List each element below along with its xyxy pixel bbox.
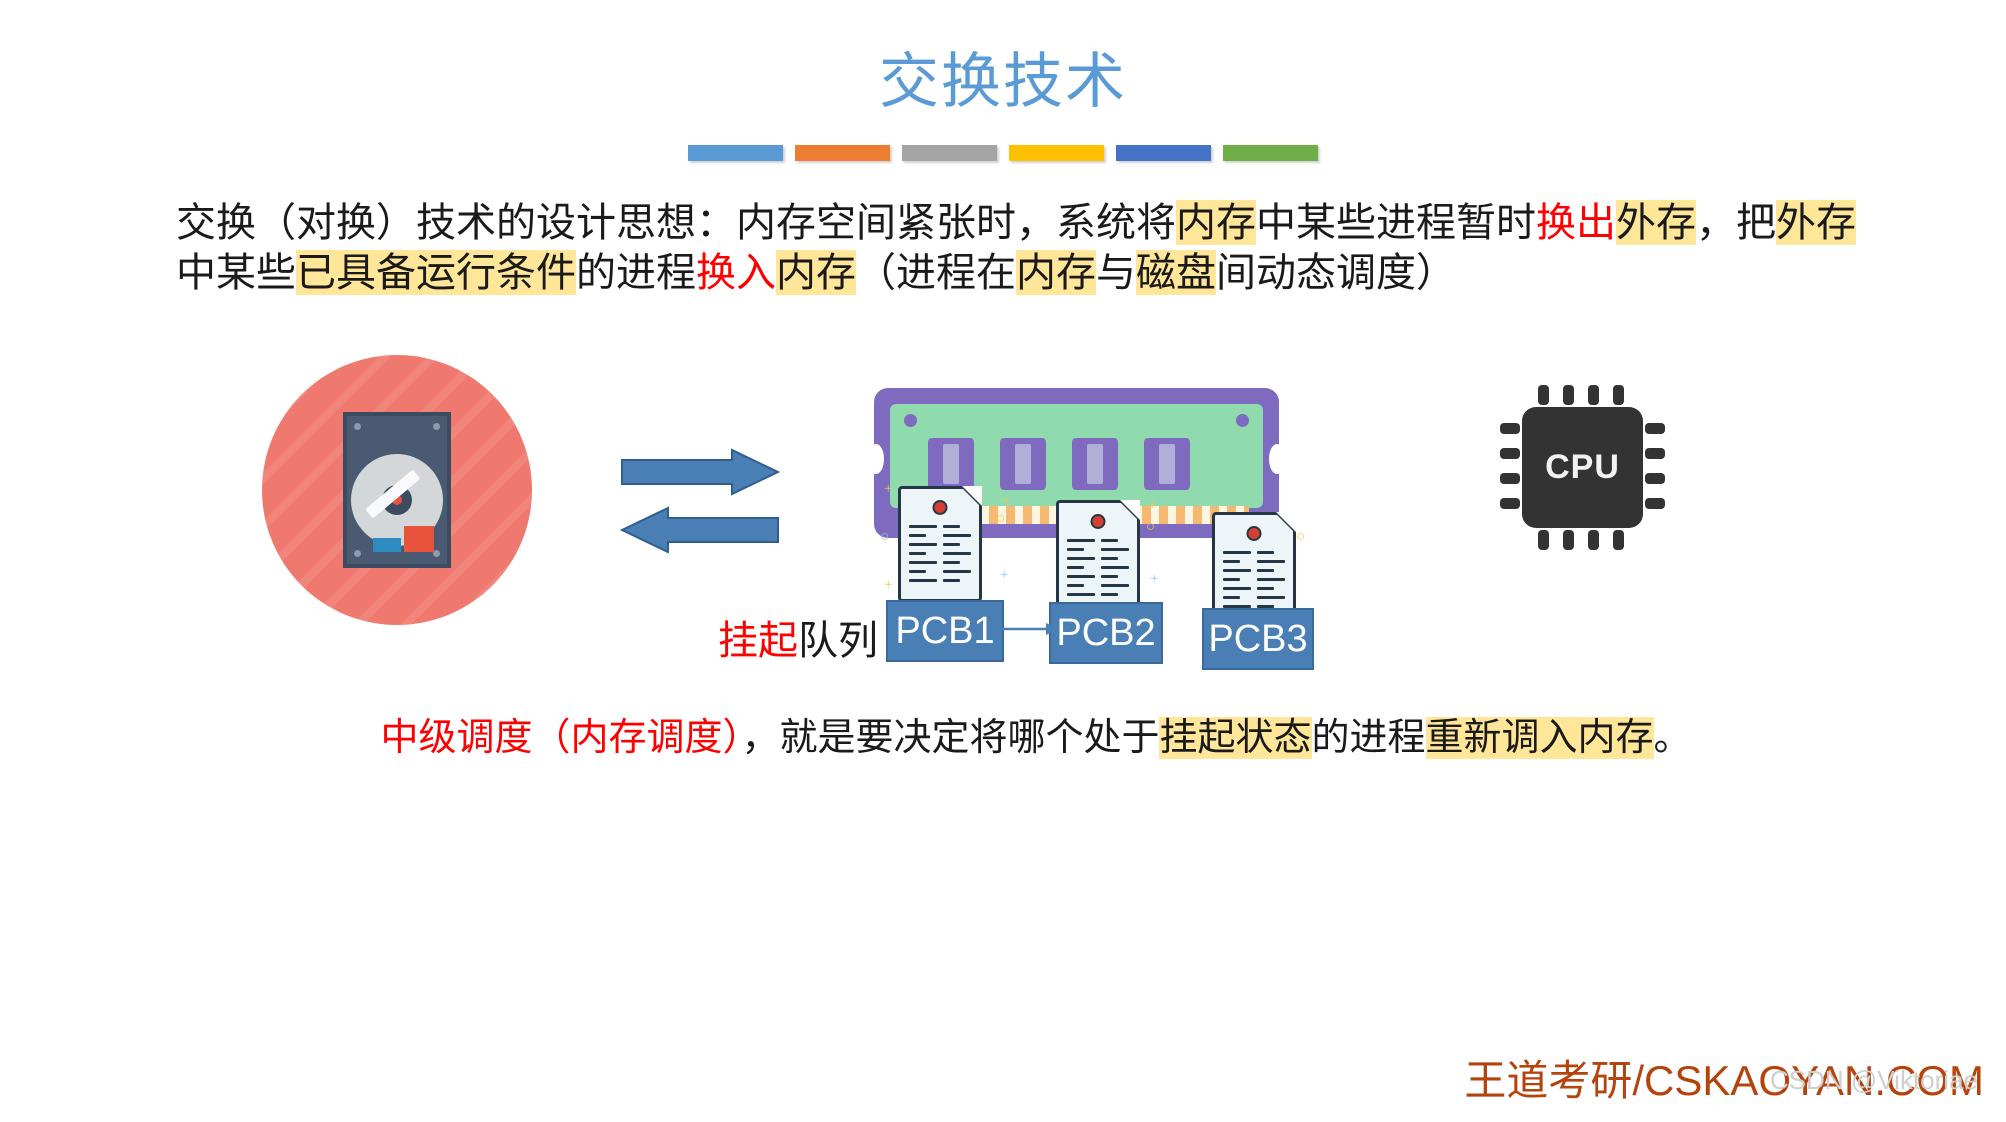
cpu-pin [1613,385,1624,405]
disk-led-blue [373,538,401,552]
document-line [1223,578,1240,581]
document-status-dot [1091,514,1106,529]
text-run-plain: 中某些进程暂时 [1256,200,1536,245]
document-status-dot [933,500,948,515]
sparkle-decoration: + [1000,568,1008,583]
pcb-queue-arrow-icon [1000,622,1060,636]
cpu-pin [1645,473,1665,484]
cpu-chip-icon: CPU [1500,385,1665,550]
disk-screw [433,423,440,430]
text-run-plain: 间动态调度） [1216,250,1456,295]
rule-segment-6 [1223,145,1318,161]
document-line [943,543,960,546]
document-line [1257,560,1285,563]
cpu-pin [1500,498,1520,509]
ram-chip [1000,438,1046,490]
document-line [1067,566,1084,569]
document-line [909,525,937,528]
ram-chip-core [1015,444,1031,484]
cpu-pin [1588,530,1599,550]
sparkle-decoration: + [884,482,892,497]
main-paragraph: 交换（对换）技术的设计思想：内存空间紧张时，系统将内存中某些进程暂时换出外存，把… [176,198,1866,298]
text-run-highlight: 外存 [1616,200,1696,245]
suspend-queue-label-red: 挂起 [718,618,798,663]
document-line [1223,560,1240,563]
rule-segment-3 [902,145,997,161]
document-status-dot [1247,526,1262,541]
footer-brand: 王道考研/CSKAOYAN.COM [1464,1047,1984,1108]
sparkle-decoration: ○ [1146,520,1155,535]
ram-notch-left [868,444,884,474]
document-line [1223,569,1251,572]
sparkle-decoration: + [1150,572,1158,587]
document-line-column [1101,539,1129,607]
sparkle-decoration: + [884,578,892,593]
cpu-pin [1645,448,1665,459]
pcb-box-3[interactable]: PCB3 [1202,608,1314,670]
rule-segment-1 [688,145,783,161]
document-line [909,543,937,546]
ram-chip [928,438,974,490]
disk-screw [354,550,361,557]
document-line [1101,548,1129,551]
process-document-icon [1056,500,1140,616]
document-line [943,570,971,573]
cpu-pin [1538,530,1549,550]
document-line [1101,584,1129,587]
document-line [1257,587,1274,590]
ram-chip [1144,438,1190,490]
bottom-paragraph: 中级调度（内存调度），就是要决定将哪个处于挂起状态的进程重新调入内存。 [176,713,1896,763]
cpu-pin [1500,448,1520,459]
text-run-highlight: 磁盘 [1136,250,1216,295]
document-line [1067,575,1095,578]
document-text-lines [1067,539,1129,607]
text-run-red: 中级调度（内存调度） [380,717,741,759]
document-line [943,552,971,555]
text-run-highlight: 内存 [1176,200,1256,245]
text-run-red: 换出 [1536,200,1616,245]
hard-disk-icon [343,412,451,568]
cpu-pin [1538,385,1549,405]
ram-mount-hole [904,414,917,427]
document-line [1101,593,1118,596]
text-run-plain: （进程在 [856,250,1016,295]
disk-screw [433,550,440,557]
text-run-plain: 交换（对换）技术的设计思想：内存空间紧张时，系统将 [176,200,1176,245]
document-line [943,525,960,528]
document-line [1257,596,1285,599]
ram-chip-core [1159,444,1175,484]
document-line [1257,578,1285,581]
sparkle-decoration: ○ [880,530,889,545]
text-run-highlight: 已具备运行条件 [296,250,576,295]
sparkle-decoration: + [1002,494,1010,509]
document-line [1067,539,1095,542]
document-line [909,552,926,555]
cpu-pin [1588,385,1599,405]
ram-mount-hole [1236,414,1249,427]
cpu-pin [1613,530,1624,550]
ram-notch-right [1269,444,1285,474]
document-line [1257,569,1274,572]
cpu-pin [1645,423,1665,434]
document-line [909,579,937,582]
text-run-highlight: 挂起状态 [1159,717,1311,759]
pcb-box-2[interactable]: PCB2 [1049,602,1163,664]
swap-arrows-group [620,448,780,558]
suspend-queue-label: 挂起队列 [718,608,878,666]
suspend-queue-label-black: 队列 [798,618,878,663]
text-run-plain: 与 [1096,250,1136,295]
ram-chip-core [1087,444,1103,484]
document-line [943,561,960,564]
document-line [1223,551,1251,554]
hard-disk-illustration [262,355,532,625]
disk-led-red [404,526,434,552]
document-line [1223,587,1251,590]
swap-in-arrow-left-icon [620,506,780,554]
ram-chip [1072,438,1118,490]
process-document-icon [898,486,982,602]
cpu-pin [1500,423,1520,434]
slide-canvas: 交换技术 交换（对换）技术的设计思想：内存空间紧张时，系统将内存中某些进程暂时换… [0,0,2006,1122]
cpu-pin [1563,530,1574,550]
document-line [909,561,937,564]
text-run-plain: 的进程 [1312,717,1426,759]
ram-chip-core [943,444,959,484]
document-line [909,570,926,573]
rule-segment-5 [1116,145,1211,161]
text-run-highlight: 内存 [776,250,856,295]
cpu-label: CPU [1522,407,1643,528]
text-run-plain: 中某些 [176,250,296,295]
text-run-plain: ，把 [1696,200,1776,245]
disk-screw [354,423,361,430]
document-line [1101,575,1118,578]
document-line [1067,593,1095,596]
text-run-highlight: 内存 [1016,250,1096,295]
title-rule-decoration [688,145,1318,161]
document-line [943,579,960,582]
cpu-pin [1563,385,1574,405]
rule-segment-2 [795,145,890,161]
document-line [1067,548,1084,551]
page-title: 交换技术 [0,48,2006,117]
sparkle-decoration: + [1148,498,1156,513]
rule-segment-4 [1009,145,1104,161]
document-line [1067,584,1084,587]
text-run-plain: 。 [1654,717,1692,759]
text-run-plain: ，就是要决定将哪个处于 [741,717,1159,759]
document-line-column [1067,539,1095,607]
document-line [1101,566,1129,569]
cpu-pin [1500,473,1520,484]
document-line [1067,557,1095,560]
cpu-pin [1645,498,1665,509]
document-line [1257,551,1274,554]
document-line-column [909,525,937,593]
sparkle-decoration: ○ [1296,530,1305,545]
document-line [1101,539,1118,542]
document-line [943,534,971,537]
document-text-lines [909,525,971,593]
sparkle-decoration: ○ [996,512,1005,527]
pcb-box-1[interactable]: PCB1 [886,600,1004,662]
document-line [1223,596,1240,599]
swap-out-arrow-right-icon [620,448,780,496]
text-run-highlight: 重新调入内存 [1426,717,1654,759]
text-run-red: 换入 [696,250,776,295]
document-line [909,534,926,537]
document-line-column [943,525,971,593]
text-run-plain: 的进程 [576,250,696,295]
text-run-highlight: 外存 [1776,200,1856,245]
document-line [1101,557,1118,560]
